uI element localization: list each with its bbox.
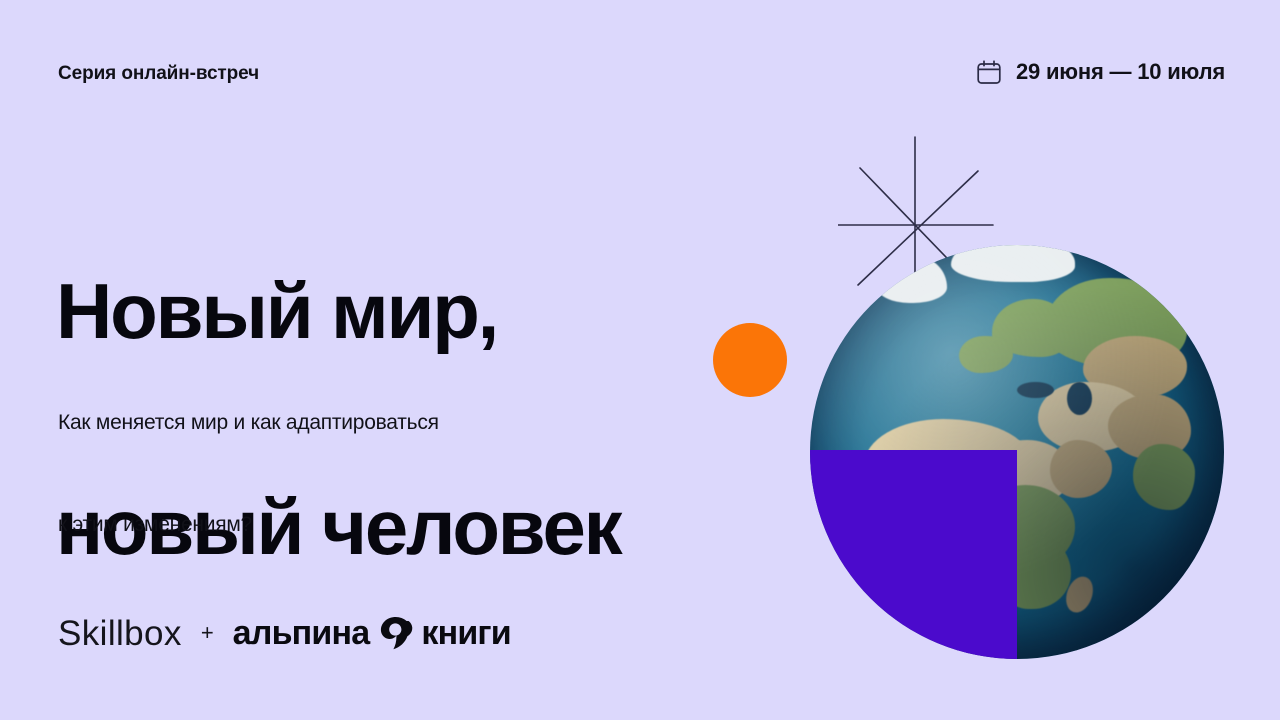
alpina-word: альпина — [233, 616, 370, 650]
calendar-icon — [976, 59, 1002, 85]
headline-line-1: Новый мир, — [56, 275, 621, 347]
alpina-books-logo: альпина книги — [233, 612, 511, 654]
page-subtitle: Как меняется мир и как адаптироваться к … — [58, 338, 439, 610]
subtitle-line-2: к этим изменениям? — [58, 508, 439, 542]
date-range: 29 июня — 10 июля — [976, 59, 1225, 85]
promo-banner: Серия онлайн-встреч 29 июня — 10 июля Но… — [0, 0, 1280, 720]
subtitle-line-1: Как меняется мир и как адаптироваться — [58, 406, 439, 440]
eyebrow-label: Серия онлайн-встреч — [58, 63, 259, 85]
alpina-logo-mark — [374, 612, 416, 654]
orange-circle-decoration — [713, 323, 787, 397]
plus-separator: + — [200, 622, 215, 644]
earth-globe — [810, 245, 1224, 659]
skillbox-logo: Skillbox — [58, 616, 182, 651]
purple-square-overlay — [810, 450, 1017, 659]
alpina-books-word: книги — [421, 616, 511, 650]
partner-logos: Skillbox + альпина книги — [58, 607, 511, 659]
date-range-text: 29 июня — 10 июля — [1016, 59, 1225, 85]
globe-sphere — [810, 245, 1224, 659]
